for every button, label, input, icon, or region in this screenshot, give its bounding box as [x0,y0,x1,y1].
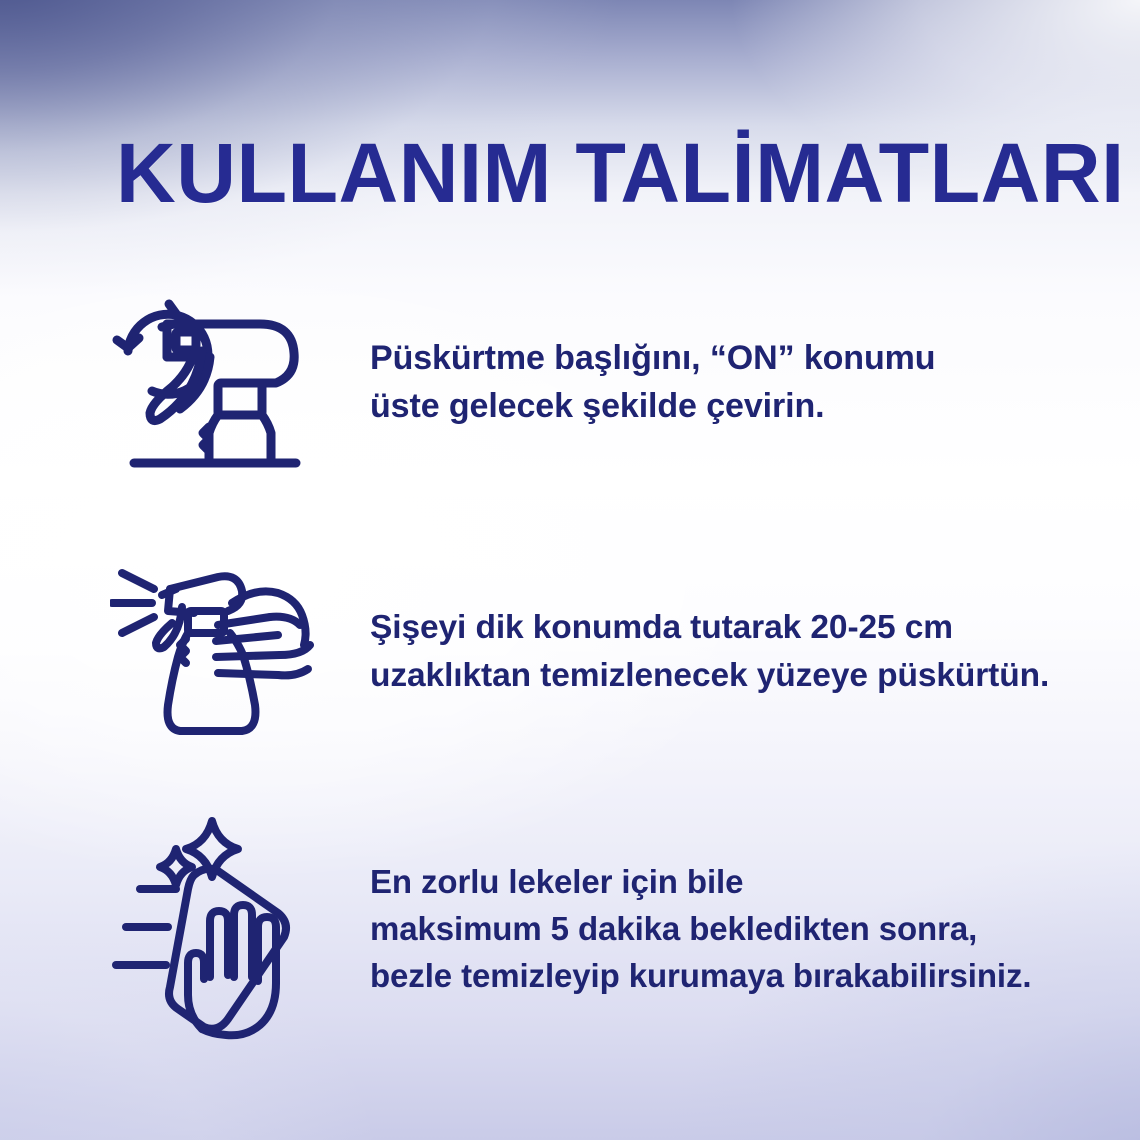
hand-wiping-cloth-sparkle-icon [110,815,320,1041]
instruction-step-1: Püskürtme başlığını, “ON” konumu üste ge… [110,286,1110,478]
step-3-line-1: En zorlu lekeler için bile [370,858,1110,905]
step-1-text: Püskürtme başlığını, “ON” konumu üste ge… [348,334,1110,430]
step-1-line-2: üste gelecek şekilde çevirin. [370,382,1110,430]
step-2-line-2: uzaklıktan temizlenecek yüzeye püskürtün… [370,652,1110,700]
step-1-line-1: Püskürtme başlığını, “ON” konumu [370,334,1110,382]
step-3-text: En zorlu lekeler için bile maksimum 5 da… [348,858,1110,999]
usage-instructions-poster: KULLANIM TALİMATLARI [0,0,1140,1140]
hand-spraying-bottle-icon [110,559,314,745]
step-1-icon-cell [110,286,348,478]
instruction-step-2: Şişeyi dik konumda tutarak 20-25 cm uzak… [110,556,1110,748]
step-3-icon-cell [110,812,348,1044]
spray-trigger-rotate-icon [110,291,310,473]
step-3-line-3: bezle temizleyip kurumaya bırakabilirsin… [370,952,1110,999]
step-2-icon-cell [110,556,348,748]
instruction-step-3: En zorlu lekeler için bile maksimum 5 da… [110,812,1110,1044]
step-3-line-2: maksimum 5 dakika bekledikten sonra, [370,905,1110,952]
step-2-line-1: Şişeyi dik konumda tutarak 20-25 cm [370,604,1110,652]
instruction-steps-list: Püskürtme başlığını, “ON” konumu üste ge… [0,0,1140,1140]
step-2-text: Şişeyi dik konumda tutarak 20-25 cm uzak… [348,604,1110,700]
